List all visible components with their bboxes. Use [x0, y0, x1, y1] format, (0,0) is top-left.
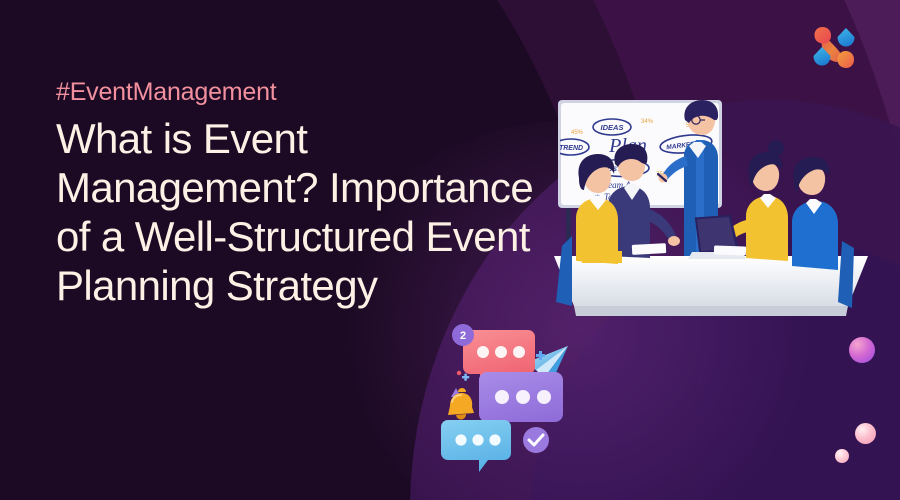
- dot-small-pink: [835, 449, 849, 463]
- dot-large-magenta: [849, 337, 875, 363]
- unread-badge: 2: [452, 324, 474, 346]
- page-title: What is Event Management? Importance of …: [56, 115, 556, 311]
- svg-text:34%: 34%: [641, 119, 654, 125]
- svg-text:IDEAS: IDEAS: [601, 123, 624, 132]
- bell-icon: [448, 388, 474, 420]
- dot-accent-red: [457, 371, 461, 375]
- svg-text:TREND: TREND: [559, 145, 583, 152]
- event-management-banner: #EventManagement What is Event Managemen…: [0, 0, 900, 500]
- chat-graphic: 2: [432, 316, 602, 488]
- meeting-illustration-svg: IDEAS 34% TREND 45% Plan MARKETING 55% C…: [546, 96, 876, 336]
- headline-block: #EventManagement What is Event Managemen…: [56, 78, 556, 311]
- brand-logo-icon: [808, 22, 860, 74]
- dot-medium-pink: [855, 423, 876, 444]
- brand-logo[interactable]: [808, 22, 860, 79]
- meeting-illustration: IDEAS 34% TREND 45% Plan MARKETING 55% C…: [546, 96, 876, 336]
- blue-bubble: [441, 420, 511, 472]
- svg-text:45%: 45%: [571, 130, 584, 136]
- hashtag-label: #EventManagement: [56, 78, 556, 107]
- chat-graphic-svg: 2: [432, 316, 602, 488]
- check-circle-icon: [523, 427, 549, 453]
- badge-count: 2: [460, 330, 466, 342]
